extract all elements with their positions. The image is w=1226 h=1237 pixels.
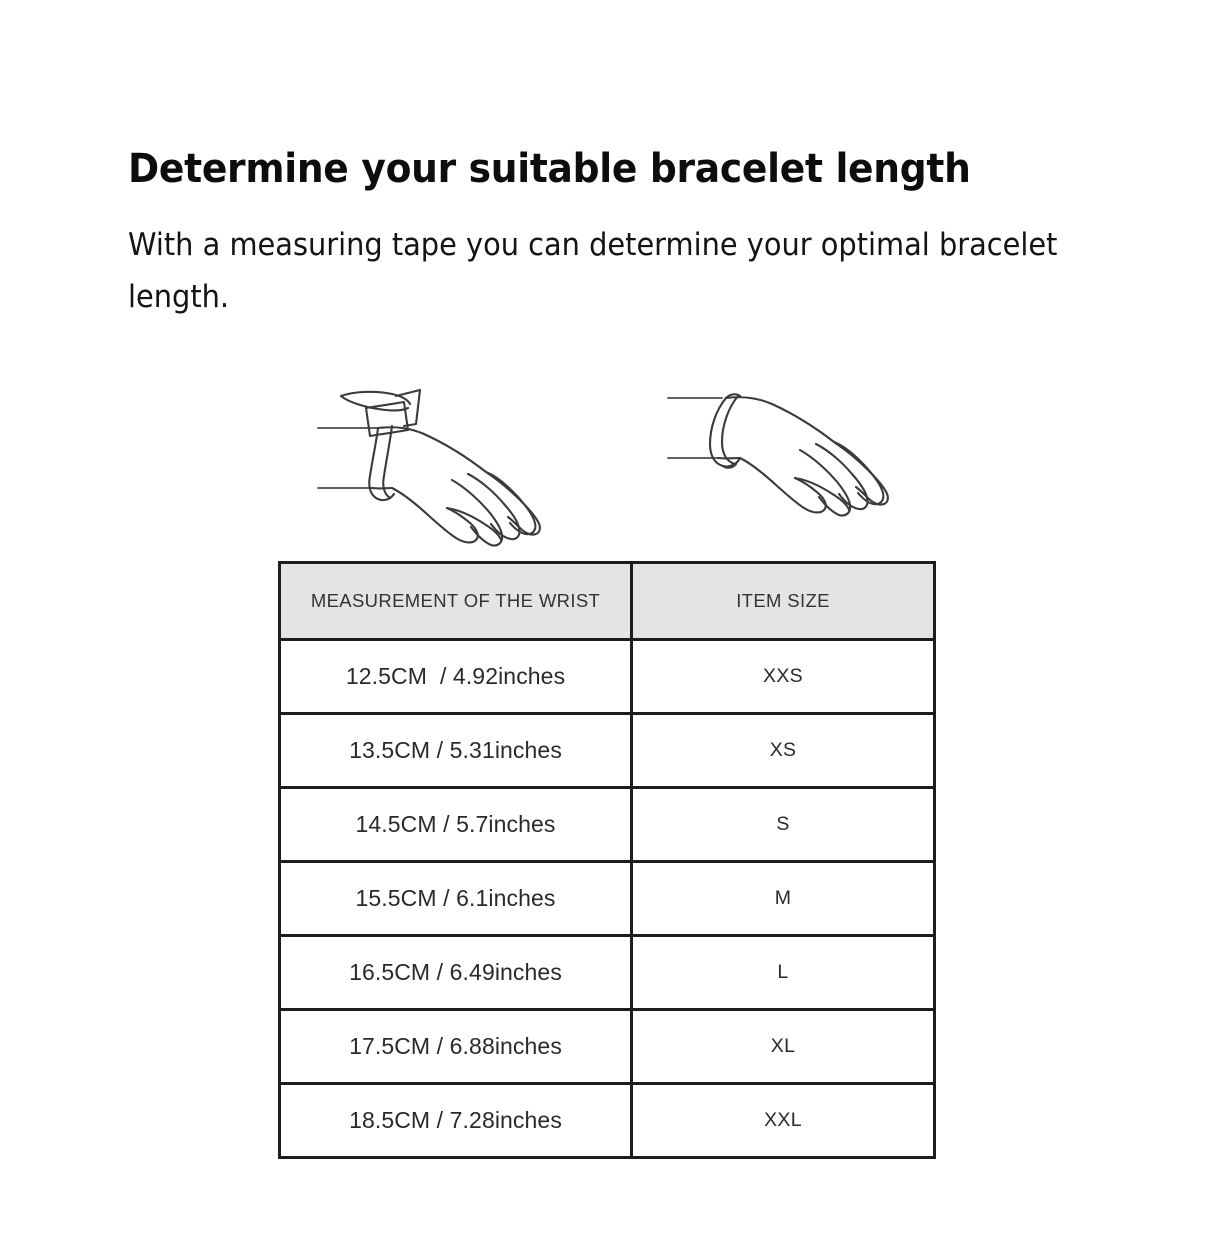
table-row: 12.5CM / 4.92inches XXS bbox=[280, 640, 935, 714]
cell-measurement: 15.5CM / 6.1inches bbox=[280, 862, 632, 936]
table-row: 14.5CM / 5.7inches S bbox=[280, 788, 935, 862]
bracelet-size-table: MEASUREMENT OF THE WRIST ITEM SIZE 12.5C… bbox=[278, 561, 936, 1159]
cell-measurement: 14.5CM / 5.7inches bbox=[280, 788, 632, 862]
page-title: Determine your suitable bracelet length bbox=[128, 146, 1059, 193]
table-header-row: MEASUREMENT OF THE WRIST ITEM SIZE bbox=[280, 563, 935, 640]
size-guide-page: Determine your suitable bracelet length … bbox=[0, 0, 1226, 1237]
heading-block: Determine your suitable bracelet length … bbox=[128, 146, 1118, 323]
hand-with-bracelet-icon bbox=[660, 352, 960, 552]
table-row: 13.5CM / 5.31inches XS bbox=[280, 714, 935, 788]
hand-with-measuring-tape-icon bbox=[300, 352, 600, 552]
cell-item-size: XXL bbox=[632, 1084, 935, 1158]
size-table-container: MEASUREMENT OF THE WRIST ITEM SIZE 12.5C… bbox=[278, 561, 933, 1159]
table-row: 18.5CM / 7.28inches XXL bbox=[280, 1084, 935, 1158]
illustration-row bbox=[300, 352, 960, 552]
cell-measurement: 13.5CM / 5.31inches bbox=[280, 714, 632, 788]
cell-measurement: 18.5CM / 7.28inches bbox=[280, 1084, 632, 1158]
cell-item-size: S bbox=[632, 788, 935, 862]
table-row: 16.5CM / 6.49inches L bbox=[280, 936, 935, 1010]
cell-item-size: L bbox=[632, 936, 935, 1010]
table-row: 15.5CM / 6.1inches M bbox=[280, 862, 935, 936]
page-subtitle: With a measuring tape you can determine … bbox=[128, 219, 1077, 323]
table-row: 17.5CM / 6.88inches XL bbox=[280, 1010, 935, 1084]
cell-item-size: XL bbox=[632, 1010, 935, 1084]
cell-item-size: XS bbox=[632, 714, 935, 788]
cell-measurement: 16.5CM / 6.49inches bbox=[280, 936, 632, 1010]
cell-measurement: 17.5CM / 6.88inches bbox=[280, 1010, 632, 1084]
column-header-measurement: MEASUREMENT OF THE WRIST bbox=[280, 563, 632, 640]
cell-measurement: 12.5CM / 4.92inches bbox=[280, 640, 632, 714]
cell-item-size: M bbox=[632, 862, 935, 936]
column-header-item-size: ITEM SIZE bbox=[632, 563, 935, 640]
cell-item-size: XXS bbox=[632, 640, 935, 714]
